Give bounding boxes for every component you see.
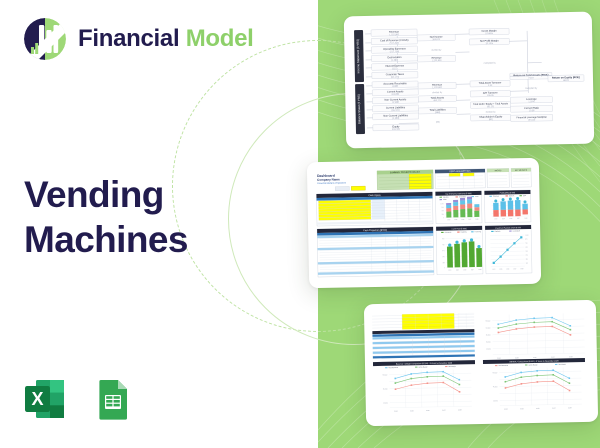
svg-text:(80): (80) xyxy=(489,119,493,121)
svg-text:625: 625 xyxy=(525,247,527,249)
svg-text:(65,441): (65,441) xyxy=(391,110,399,112)
svg-text:2026: 2026 xyxy=(506,268,509,270)
svg-text:1,222,900: 1,222,900 xyxy=(432,87,443,89)
svg-text:multiplied by: multiplied by xyxy=(484,61,497,64)
svg-text:37,888: 37,888 xyxy=(392,102,400,104)
svg-text:2026: 2026 xyxy=(426,410,430,412)
svg-text:2028: 2028 xyxy=(476,219,479,221)
svg-text:1,000: 1,000 xyxy=(525,234,528,236)
dupont-flowchart-graphic: Income Statement (3 YRS) Balance Sheet (… xyxy=(351,20,587,140)
svg-text:multiplied by: multiplied by xyxy=(525,87,538,90)
svg-text:1,222,900: 1,222,900 xyxy=(389,34,400,36)
svg-text:SUMMARY PROJECTIONS (5Y): SUMMARY PROJECTIONS (5Y) xyxy=(390,171,421,175)
svg-text:32.13%: 32.13% xyxy=(486,43,494,45)
svg-text:2024: 2024 xyxy=(448,219,451,221)
svg-text:DEBT ASSUMPTIONS: DEBT ASSUMPTIONS xyxy=(449,170,471,173)
svg-text:2027: 2027 xyxy=(469,219,472,221)
page-title-line2: Machines xyxy=(24,217,188,262)
svg-text:Vending: Vending xyxy=(443,197,449,199)
svg-text:Cash Flow ($ 000): Cash Flow ($ 000) xyxy=(452,228,467,230)
svg-text:(127): (127) xyxy=(392,68,397,70)
svg-text:Financial Model & Projections: Financial Model & Projections xyxy=(317,181,347,185)
circular-bar-chart-logo-icon xyxy=(22,16,68,62)
excel-icon[interactable]: X xyxy=(22,376,68,422)
svg-text:375: 375 xyxy=(526,255,528,257)
svg-text:divided by: divided by xyxy=(486,111,497,113)
svg-text:180: 180 xyxy=(443,262,445,264)
svg-text:(82.13): (82.13) xyxy=(487,106,494,108)
svg-text:KEY METRICS: KEY METRICS xyxy=(515,170,528,172)
svg-text:(93.22): (93.22) xyxy=(528,120,535,122)
google-sheets-icon[interactable] xyxy=(90,376,136,422)
svg-text:20,000: 20,000 xyxy=(486,341,491,343)
financial-reports-card[interactable]: 80,00060,000 40,00020,000 10,000 xyxy=(364,300,598,426)
svg-text:875: 875 xyxy=(525,239,527,241)
svg-text:Company Name: Company Name xyxy=(317,177,340,181)
brand-name-part2: Mo xyxy=(186,25,220,52)
svg-text:Financing: Financing xyxy=(475,231,482,233)
svg-text:2026: 2026 xyxy=(510,218,513,220)
svg-text:2028: 2028 xyxy=(520,268,523,270)
svg-text:1,200: 1,200 xyxy=(440,203,444,205)
file-format-icons: X xyxy=(22,376,136,422)
svg-text:(217,758): (217,758) xyxy=(390,51,400,53)
svg-text:2025: 2025 xyxy=(456,269,459,271)
svg-text:750: 750 xyxy=(525,243,527,245)
svg-text:720: 720 xyxy=(442,244,444,246)
page-title-line1: Vending xyxy=(24,172,188,217)
svg-text:40,000: 40,000 xyxy=(383,388,388,390)
svg-text:2027: 2027 xyxy=(551,357,555,359)
svg-text:10.38: 10.38 xyxy=(529,110,535,112)
svg-text:Cash Projection ($'000): Cash Projection ($'000) xyxy=(363,229,387,232)
svg-text:80,000: 80,000 xyxy=(486,320,491,322)
svg-text:2024: 2024 xyxy=(495,218,498,220)
svg-text:2024: 2024 xyxy=(497,358,501,360)
svg-text:125: 125 xyxy=(526,263,528,265)
svg-text:Income Statement (3 YRS): Income Statement (3 YRS) xyxy=(356,39,361,74)
svg-text:1,222,900: 1,222,900 xyxy=(432,60,443,62)
svg-text:900: 900 xyxy=(442,207,444,209)
svg-text:2025: 2025 xyxy=(515,357,519,359)
svg-text:88.03: 88.03 xyxy=(563,80,569,82)
svg-text:RATIOS: RATIOS xyxy=(495,169,502,172)
brand-name-part3: del xyxy=(220,25,254,52)
svg-text:Revenue: Revenue xyxy=(493,196,499,198)
svg-text:(988): (988) xyxy=(435,112,440,114)
svg-text:300: 300 xyxy=(442,214,444,216)
svg-text:Top 5 Revenue Streams ($ 000): Top 5 Revenue Streams ($ 000) xyxy=(445,192,472,196)
svg-text:8,988: 8,988 xyxy=(392,86,398,88)
svg-text:Payback: Payback xyxy=(495,231,501,233)
svg-text:(1,380): (1,380) xyxy=(391,60,398,62)
svg-text:2027: 2027 xyxy=(442,410,446,412)
svg-text:2028: 2028 xyxy=(569,356,573,358)
svg-text:EBIT: EBIT xyxy=(523,195,526,197)
svg-text:900: 900 xyxy=(442,238,444,240)
svg-text:Profitability ($ 000): Profitability ($ 000) xyxy=(500,191,516,194)
svg-text:2028: 2028 xyxy=(525,218,528,220)
svg-text:2027: 2027 xyxy=(471,269,474,271)
svg-text:divided by: divided by xyxy=(431,50,442,52)
svg-text:2028: 2028 xyxy=(458,409,462,411)
svg-text:Balance Sheet (3 YRS): Balance Sheet (3 YRS) xyxy=(357,94,362,124)
svg-text:60,000: 60,000 xyxy=(486,327,491,329)
svg-text:2028: 2028 xyxy=(568,407,572,409)
svg-text:404,329: 404,329 xyxy=(392,129,401,131)
svg-text:Cons.: Cons. xyxy=(475,196,480,198)
svg-text:2025: 2025 xyxy=(410,410,414,412)
svg-text:(517,490): (517,490) xyxy=(390,43,400,45)
svg-text:2026: 2026 xyxy=(536,408,540,410)
svg-text:80,000: 80,000 xyxy=(493,372,498,374)
svg-text:40,000: 40,000 xyxy=(493,386,498,388)
svg-text:2024: 2024 xyxy=(492,269,495,271)
svg-text:divided by: divided by xyxy=(432,92,443,94)
svg-text:424,884: 424,884 xyxy=(391,94,400,96)
svg-text:10,000: 10,000 xyxy=(383,402,388,404)
financial-reports-graphic: 80,00060,000 40,00020,000 10,000 xyxy=(370,307,592,419)
svg-text:393,972: 393,972 xyxy=(432,39,441,41)
svg-text:2027: 2027 xyxy=(552,408,556,410)
svg-text:1.20%: 1.20% xyxy=(528,101,534,103)
svg-text:10,000: 10,000 xyxy=(493,400,498,402)
brand-name-part1: Financial xyxy=(78,25,179,52)
svg-text:2026: 2026 xyxy=(462,219,465,221)
svg-text:(2,388): (2,388) xyxy=(392,118,399,120)
svg-text:2027: 2027 xyxy=(517,218,520,220)
svg-text:136.05: 136.05 xyxy=(487,95,495,97)
svg-text:2025: 2025 xyxy=(455,219,458,221)
svg-text:600: 600 xyxy=(442,210,444,212)
svg-text:360: 360 xyxy=(442,256,444,258)
svg-text:2024: 2024 xyxy=(504,408,508,410)
svg-text:(88): (88) xyxy=(436,122,440,124)
brand-wordmark: Financial Model xyxy=(78,27,254,51)
svg-text:2024: 2024 xyxy=(394,411,398,413)
svg-text:73.97: 73.97 xyxy=(528,78,534,80)
svg-text:462,772: 462,772 xyxy=(433,100,442,102)
svg-text:X: X xyxy=(31,389,43,409)
page-title: Vending Machines xyxy=(24,172,188,262)
svg-text:10,000: 10,000 xyxy=(486,348,491,350)
slide-canvas: Financial Model Vending Machines X xyxy=(0,0,600,448)
financial-dashboard-graphic: Dashboard Company Name Financial Model &… xyxy=(313,165,535,281)
financial-dashboard-card[interactable]: Dashboard Company Name Financial Model &… xyxy=(307,158,541,288)
svg-text:2026: 2026 xyxy=(464,269,467,271)
svg-text:40,000: 40,000 xyxy=(486,334,491,336)
svg-text:500: 500 xyxy=(526,251,528,253)
svg-text:80,000: 80,000 xyxy=(383,374,388,376)
svg-text:2028: 2028 xyxy=(479,269,482,271)
svg-text:250: 250 xyxy=(526,259,528,261)
svg-text:57.69%: 57.69% xyxy=(485,33,493,35)
svg-text:2026: 2026 xyxy=(533,357,537,359)
svg-text:2027: 2027 xyxy=(513,268,516,270)
svg-text:2025: 2025 xyxy=(499,268,502,270)
svg-text:(92,173): (92,173) xyxy=(391,77,399,79)
svg-text:2025: 2025 xyxy=(502,218,505,220)
svg-text:540: 540 xyxy=(442,250,444,252)
svg-text:2025: 2025 xyxy=(520,408,524,410)
svg-text:2024: 2024 xyxy=(449,269,452,271)
svg-text:Cash Inputs: Cash Inputs xyxy=(368,194,381,197)
dupont-flowchart-card[interactable]: Income Statement (3 YRS) Balance Sheet (… xyxy=(344,12,594,149)
svg-text:Investment Payback Chart ($ 00: Investment Payback Chart ($ 000) xyxy=(495,226,521,229)
brand-logo: Financial Model xyxy=(22,16,254,62)
